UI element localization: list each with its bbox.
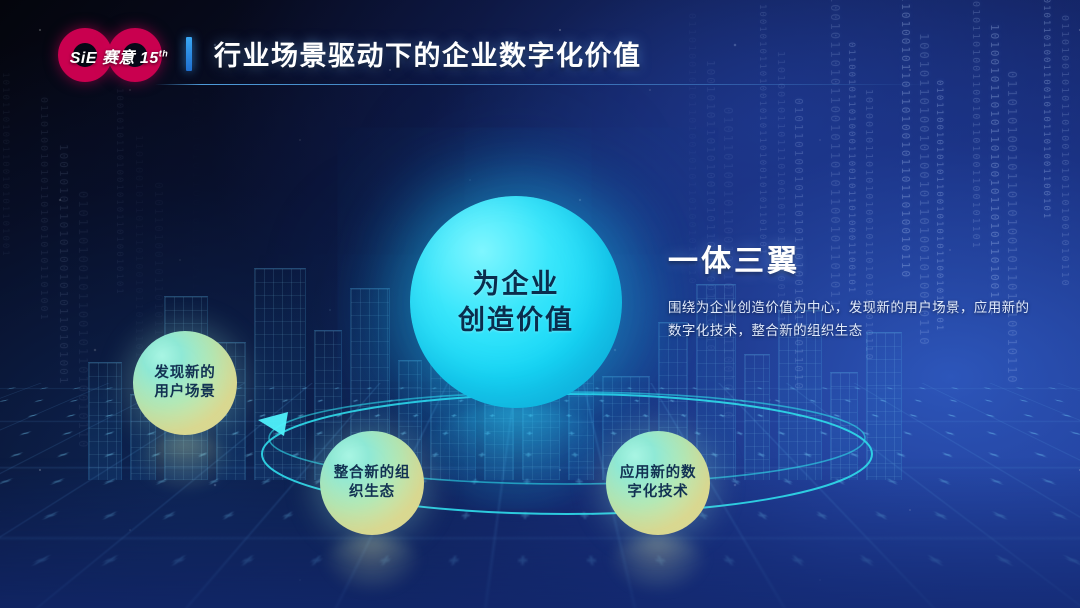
wing-sphere-discover[interactable]: 发现新的 用户场景 xyxy=(133,331,237,435)
wing-2-line-1: 整合新的组 xyxy=(334,464,411,483)
company-logo[interactable]: SiE 赛意 15th xyxy=(52,26,180,84)
logo-wordmark-text: SiE 赛意 15 xyxy=(70,50,159,67)
wing-3-line-2: 字化技术 xyxy=(627,483,688,502)
logo-wordmark: SiE 赛意 15th xyxy=(60,44,178,68)
side-panel-heading: 一体三翼 xyxy=(668,236,1030,280)
wing-1-line-2: 用户场景 xyxy=(154,383,215,402)
wing-3-line-1: 应用新的数 xyxy=(620,464,697,483)
page-title-bar: 行业场景驱动下的企业数字化价值 xyxy=(186,34,642,73)
page-title: 行业场景驱动下的企业数字化价值 xyxy=(214,34,642,73)
core-value-line-1: 为企业 xyxy=(473,266,560,302)
core-value-line-2: 创造价值 xyxy=(458,302,574,338)
title-accent-bar xyxy=(186,37,192,71)
logo-anniversary-suffix: th xyxy=(159,49,169,59)
wing-2-line-2: 织生态 xyxy=(349,483,395,502)
side-panel-description: 围绕为企业创造价值为中心，发现新的用户场景，应用新的数字化技术，整合新的组织生态 xyxy=(668,296,1030,342)
wing-sphere-technology[interactable]: 应用新的数 字化技术 xyxy=(606,431,710,535)
wing-1-line-1: 发现新的 xyxy=(154,364,215,383)
wing-sphere-integrate[interactable]: 整合新的组 织生态 xyxy=(320,431,424,535)
title-underline-rule xyxy=(155,84,935,85)
core-value-sphere[interactable]: 为企业 创造价值 xyxy=(410,196,622,408)
side-panel: 一体三翼 围绕为企业创造价值为中心，发现新的用户场景，应用新的数字化技术，整合新… xyxy=(668,236,1030,342)
slide-canvas: 1001010110100110010101101001100101011010… xyxy=(0,0,1080,608)
slide-header: SiE 赛意 15th 行业场景驱动下的企业数字化价值 xyxy=(0,0,1080,104)
